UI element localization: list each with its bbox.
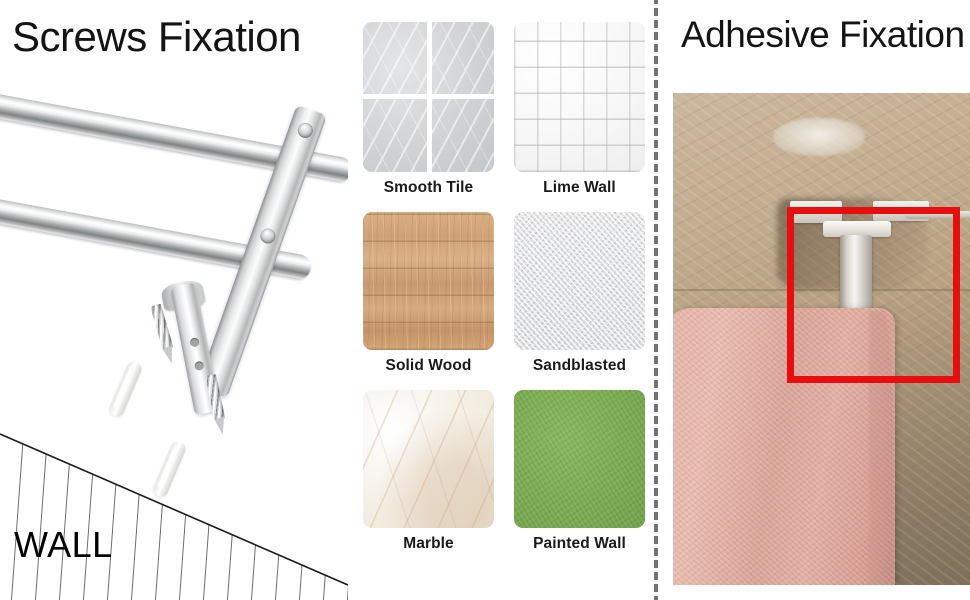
swatch-label-smooth-tile: Smooth Tile xyxy=(363,179,494,197)
swatch-smooth-tile xyxy=(363,22,494,172)
swatch-label-sandblasted: Sandblasted xyxy=(514,357,645,375)
infographic-root: Screws Fixation xyxy=(0,0,970,600)
swatch-solid-wood xyxy=(363,212,494,350)
applicable-surfaces-grid: Smooth Tile Lime Wall Solid Wood Sandbla… xyxy=(363,22,645,567)
swatch-label-lime-wall: Lime Wall xyxy=(514,179,645,197)
panel-divider xyxy=(654,0,658,600)
swatch-label-marble: Marble xyxy=(363,535,494,553)
surface-card-solid-wood: Solid Wood xyxy=(363,212,494,375)
wall-hatch-diagram xyxy=(0,420,348,600)
surface-card-marble: Marble xyxy=(363,390,494,553)
highlight-rectangle xyxy=(787,207,960,383)
plate-screw-hole xyxy=(189,337,200,348)
adhesive-fixation-title: Adhesive Fixation xyxy=(681,14,965,56)
swatch-marble xyxy=(363,390,494,528)
wall-label: WALL xyxy=(14,524,113,566)
surface-card-smooth-tile: Smooth Tile xyxy=(363,22,494,197)
swatch-lime-wall xyxy=(514,22,645,172)
surface-card-lime-wall: Lime Wall xyxy=(514,22,645,197)
wall-anchor xyxy=(107,359,143,418)
photo-adhesive-residue xyxy=(773,118,865,156)
swatch-label-solid-wood: Solid Wood xyxy=(363,357,494,375)
swatch-sandblasted xyxy=(514,212,645,350)
mounting-screw xyxy=(150,303,178,368)
wall-hatch-svg xyxy=(0,420,348,600)
screws-fixation-panel: Screws Fixation xyxy=(0,0,348,600)
screw-tip xyxy=(162,346,176,365)
screws-fixation-title: Screws Fixation xyxy=(12,13,301,61)
surface-card-painted-wall: Painted Wall xyxy=(514,390,645,553)
plate-screw-hole xyxy=(193,361,204,372)
surface-card-sandblasted: Sandblasted xyxy=(514,212,645,375)
swatch-label-painted-wall: Painted Wall xyxy=(514,535,645,553)
swatch-painted-wall xyxy=(514,390,645,528)
